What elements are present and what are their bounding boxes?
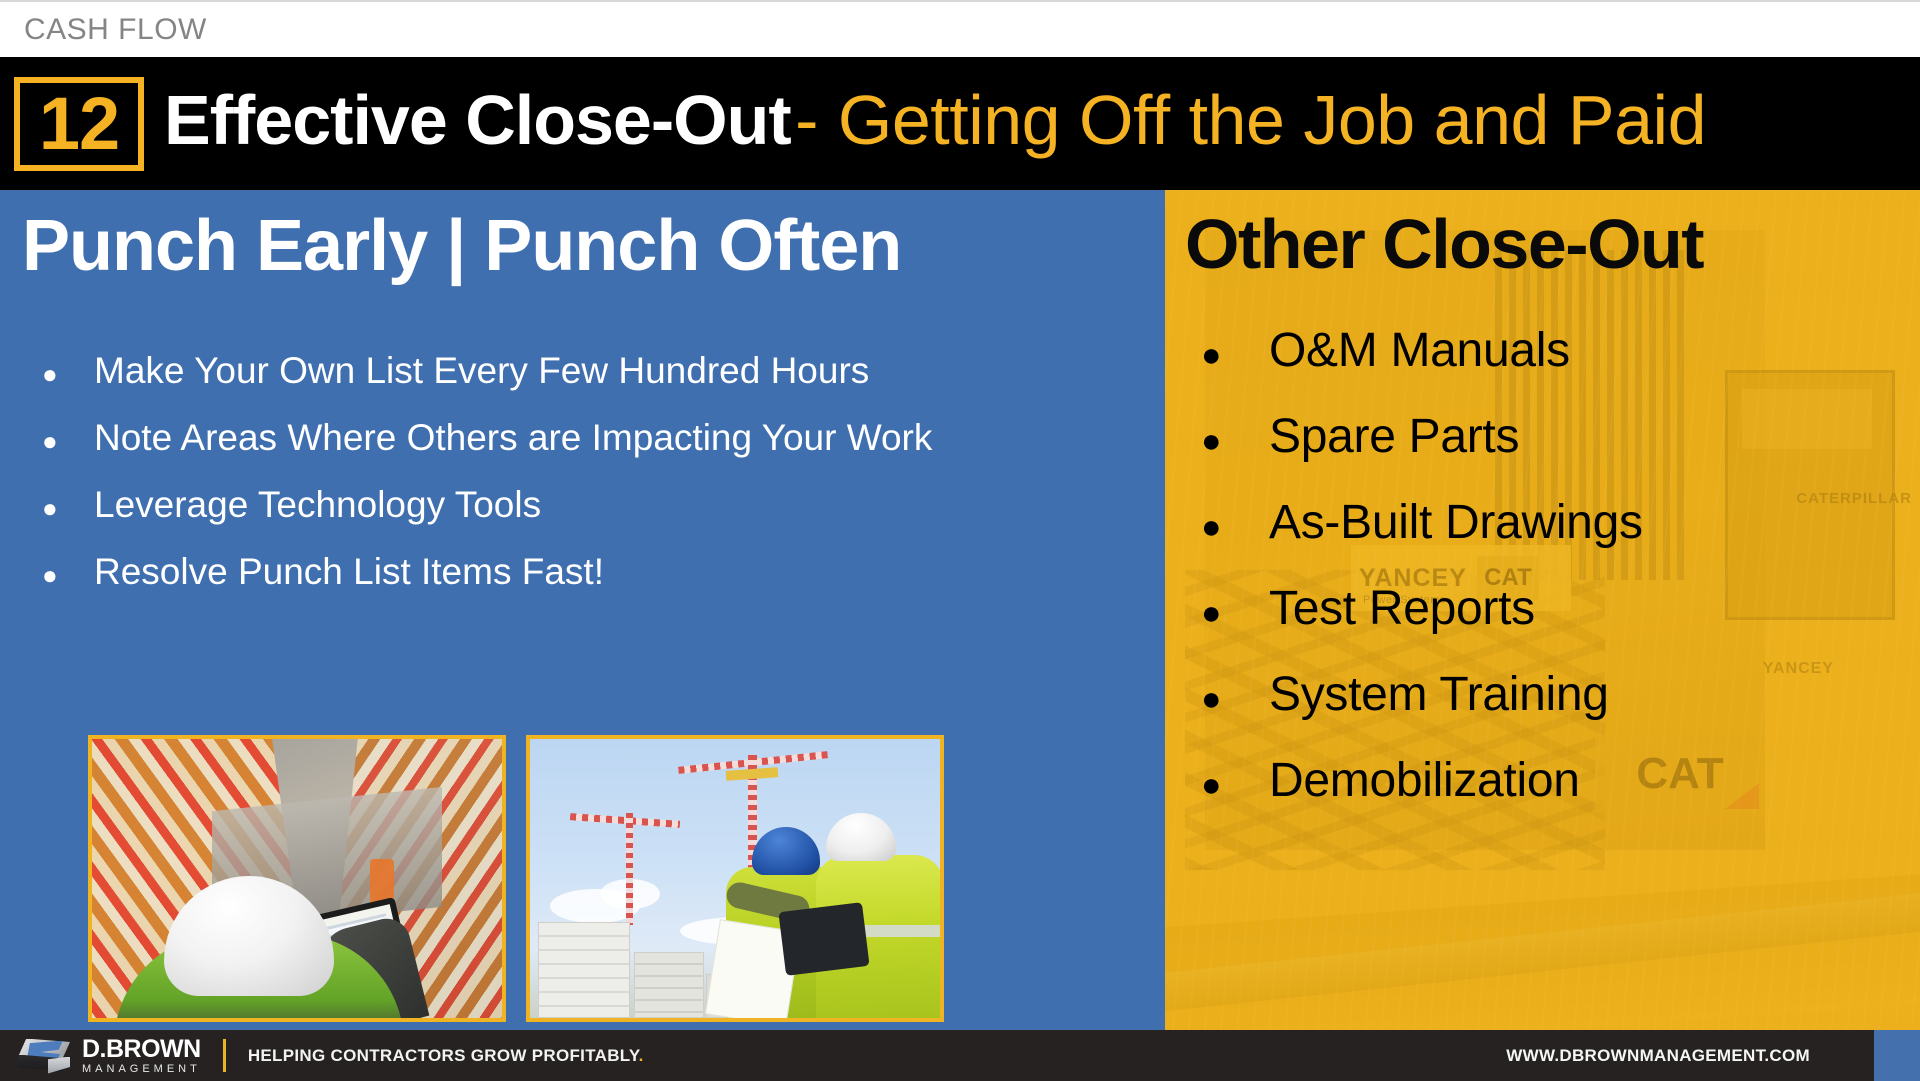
list-item-label: Resolve Punch List Items Fast!: [94, 551, 604, 593]
crane-counterjib-decoration: [726, 767, 779, 781]
list-item-label: Note Areas Where Others are Impacting Yo…: [94, 417, 932, 459]
photo-worker-with-tablet: [88, 735, 506, 1022]
bullet-icon: ●: [1189, 424, 1269, 458]
punch-list-panel: Punch Early | Punch Often ● Make Your Ow…: [0, 190, 1165, 1030]
slide-title-separator: -: [795, 81, 838, 159]
list-item: ● Make Your Own List Every Few Hundred H…: [24, 350, 1144, 392]
list-item: ● As-Built Drawings: [1189, 495, 1909, 550]
brand-subname: MANAGEMENT: [82, 1064, 201, 1075]
other-closeout-panel: YANCEY CAT Power Systems CAT CATERPILLAR…: [1165, 190, 1920, 1030]
list-item: ● Demobilization: [1189, 753, 1909, 808]
building-decoration: [538, 922, 630, 1018]
list-item-label: System Training: [1269, 667, 1609, 722]
photo-row: [88, 735, 944, 1022]
blue-hard-hat-decoration: [752, 827, 820, 875]
other-closeout-heading: Other Close-Out: [1185, 204, 1703, 284]
crane-jib-decoration: [570, 813, 680, 828]
list-item-label: Spare Parts: [1269, 409, 1519, 464]
list-item: ● Note Areas Where Others are Impacting …: [24, 417, 1144, 459]
bullet-icon: ●: [24, 562, 94, 588]
punch-list-heading: Punch Early | Punch Often: [22, 205, 901, 287]
punch-list-bullets: ● Make Your Own List Every Few Hundred H…: [24, 350, 1144, 618]
list-item-label: Demobilization: [1269, 753, 1580, 808]
slide-title: Effective Close-Out - Getting Off the Jo…: [164, 85, 1706, 163]
tablet-device-decoration: [778, 902, 869, 976]
list-item: ● Leverage Technology Tools: [24, 484, 1144, 526]
chapter-number-badge: 12: [14, 77, 144, 171]
slide-title-main: Effective Close-Out: [164, 81, 791, 159]
slide-body: Punch Early | Punch Often ● Make Your Ow…: [0, 190, 1920, 1030]
list-item: ● Test Reports: [1189, 581, 1909, 636]
bullet-icon: ●: [1189, 682, 1269, 716]
building-decoration: [634, 952, 704, 1018]
white-hard-hat-decoration: [826, 813, 896, 861]
slide: CASH FLOW 12 Effective Close-Out - Getti…: [0, 0, 1920, 1081]
list-item: ● Resolve Punch List Items Fast!: [24, 551, 1144, 593]
crane-mast-decoration: [626, 813, 633, 925]
list-item-label: Test Reports: [1269, 581, 1535, 636]
slide-title-bar: 12 Effective Close-Out - Getting Off the…: [0, 57, 1920, 190]
chapter-number: 12: [39, 87, 119, 161]
footer-accent-block: [1874, 1030, 1920, 1081]
footer-website-url[interactable]: WWW.DBROWNMANAGEMENT.COM: [1506, 1046, 1810, 1066]
bullet-icon: ●: [1189, 338, 1269, 372]
bullet-icon: ●: [24, 361, 94, 387]
section-label: CASH FLOW: [24, 13, 207, 47]
footer-divider: [223, 1039, 226, 1072]
footer-tagline-text: HELPING CONTRACTORS GROW PROFITABLY: [248, 1046, 639, 1065]
bullet-icon: ●: [24, 495, 94, 521]
photo-workers-reviewing-plans: [526, 735, 944, 1022]
list-item: ● O&M Manuals: [1189, 323, 1909, 378]
bullet-icon: ●: [1189, 510, 1269, 544]
list-item-label: Leverage Technology Tools: [94, 484, 541, 526]
footer-tagline-period: .: [639, 1046, 644, 1065]
brand-name: D.BROWN: [82, 1037, 201, 1062]
footer-tagline: HELPING CONTRACTORS GROW PROFITABLY.: [248, 1046, 644, 1066]
list-item: ● System Training: [1189, 667, 1909, 722]
other-closeout-bullets: ● O&M Manuals ● Spare Parts ● As-Built D…: [1189, 323, 1909, 839]
dbrown-logo-icon: [18, 1037, 70, 1075]
list-item-label: O&M Manuals: [1269, 323, 1570, 378]
slide-footer: D.BROWN MANAGEMENT HELPING CONTRACTORS G…: [0, 1030, 1920, 1081]
list-item: ● Spare Parts: [1189, 409, 1909, 464]
section-eyebrow-bar: CASH FLOW: [0, 0, 1920, 57]
bullet-icon: ●: [24, 428, 94, 454]
brand-wordmark: D.BROWN MANAGEMENT: [82, 1037, 201, 1075]
bullet-icon: ●: [1189, 596, 1269, 630]
list-item-label: Make Your Own List Every Few Hundred Hou…: [94, 350, 869, 392]
list-item-label: As-Built Drawings: [1269, 495, 1643, 550]
bullet-icon: ●: [1189, 768, 1269, 802]
slide-title-subtitle: Getting Off the Job and Paid: [838, 81, 1706, 159]
